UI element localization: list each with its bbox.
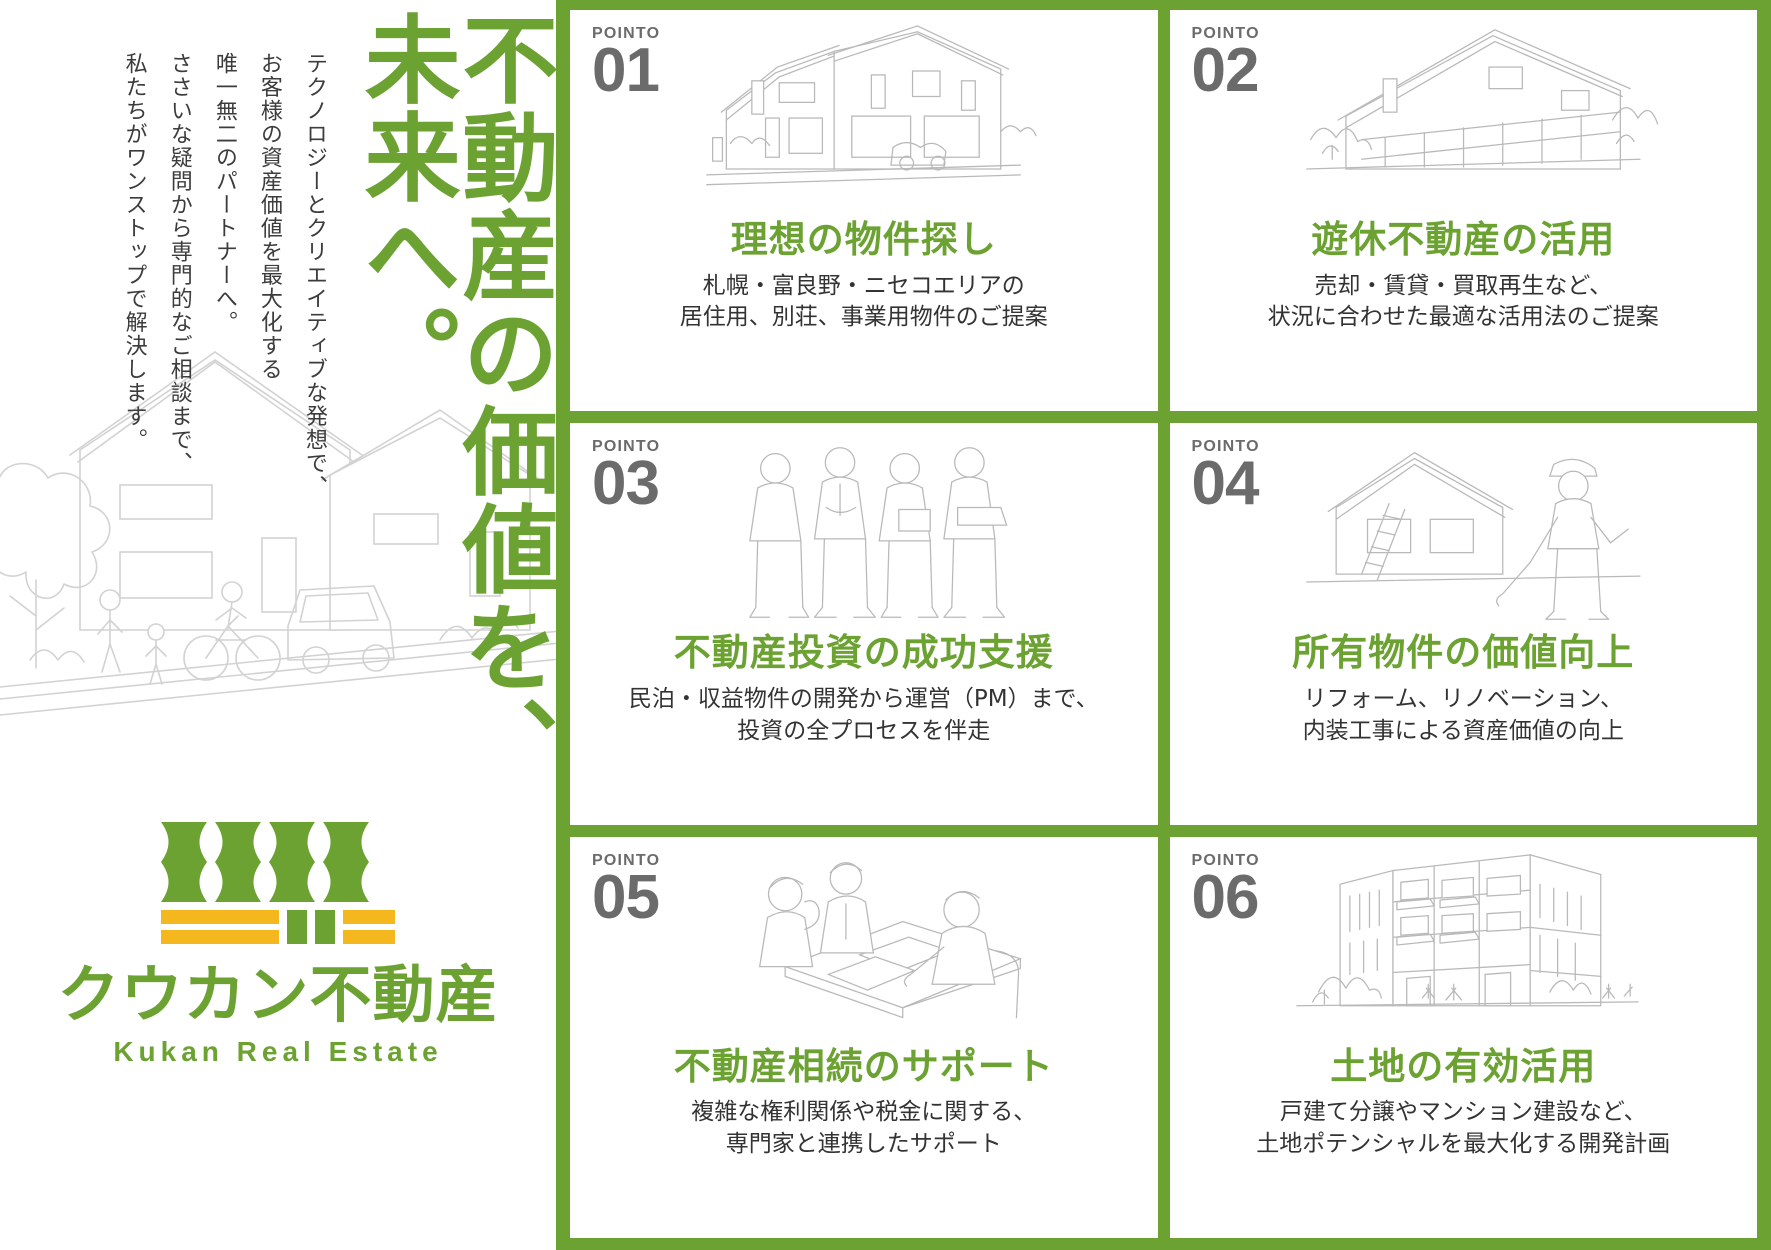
pointo-badge-02: POINTO 02 bbox=[1192, 26, 1260, 102]
point-card-05[interactable]: POINTO 05 bbox=[570, 837, 1158, 1238]
point-card-06[interactable]: POINTO 06 bbox=[1170, 837, 1758, 1238]
page-title: 不動産の価値を、 未来へ。 bbox=[354, 10, 550, 710]
card-title-05: 不動産相続のサポート bbox=[674, 1047, 1054, 1088]
card-desc-06: 戸建て分譲やマンション建設など、 土地ポテンシャルを最大化する開発計画 bbox=[1256, 1097, 1670, 1160]
card-desc-04: リフォーム、リノベーション、 内装工事による資産価値の向上 bbox=[1303, 684, 1624, 747]
pointo-badge-06: POINTO 06 bbox=[1192, 853, 1260, 929]
pointo-badge-04: POINTO 04 bbox=[1192, 439, 1260, 515]
point-card-03[interactable]: POINTO 03 bbox=[570, 423, 1158, 824]
pointo-number: 04 bbox=[1192, 453, 1260, 515]
card-desc-02: 売却・賃貸・買取再生など、 状況に合わせた最適な活用法のご提案 bbox=[1268, 271, 1659, 334]
hero-panel: 不動産の価値を、 未来へ。 私たちがワンストップで解決します。 ささいな疑問から… bbox=[0, 0, 556, 1250]
logo-mark-icon bbox=[153, 816, 403, 946]
pointo-badge-05: POINTO 05 bbox=[592, 853, 660, 929]
card-title-04: 所有物件の価値向上 bbox=[1292, 633, 1634, 674]
card-desc-05: 複雑な権利関係や税金に関する、 専門家と連携したサポート bbox=[691, 1097, 1036, 1160]
card-title-06: 土地の有効活用 bbox=[1330, 1047, 1596, 1088]
point-card-04[interactable]: POINTO 04 bbox=[1170, 423, 1758, 824]
card-title-02: 遊休不動産の活用 bbox=[1311, 220, 1615, 261]
pointo-number: 02 bbox=[1192, 40, 1260, 102]
card-desc-03: 民泊・収益物件の開発から運営（PM）まで、 投資の全プロセスを伴走 bbox=[629, 684, 1099, 747]
lede-block: 私たちがワンストップで解決します。 ささいな疑問から専門的なご相談まで、 唯一無… bbox=[113, 52, 338, 692]
lodge-building-icon bbox=[1184, 22, 1744, 218]
points-grid: POINTO 01 bbox=[556, 0, 1771, 1250]
point-card-01[interactable]: POINTO 01 bbox=[570, 10, 1158, 411]
lede-line-1: 私たちがワンストップで解決します。 bbox=[113, 52, 158, 672]
card-desc-01: 札幌・富良野・ニセコエリアの 居住用、別荘、事業用物件のご提案 bbox=[680, 271, 1048, 334]
flyer-page: 不動産の価値を、 未来へ。 私たちがワンストップで解決します。 ささいな疑問から… bbox=[0, 0, 1771, 1250]
lede-line-4: お客様の資産価値を最大化する bbox=[248, 52, 293, 672]
pointo-number: 03 bbox=[592, 453, 660, 515]
pointo-number: 05 bbox=[592, 867, 660, 929]
lede-line-5: テクノロジーとクリエイティブな発想で、 bbox=[293, 52, 338, 672]
pointo-badge-03: POINTO 03 bbox=[592, 439, 660, 515]
pointo-number: 01 bbox=[592, 40, 660, 102]
pointo-number: 06 bbox=[1192, 867, 1260, 929]
lede-line-2: ささいな疑問から専門的なご相談まで、 bbox=[158, 52, 203, 672]
card-title-03: 不動産投資の成功支援 bbox=[674, 633, 1054, 674]
headline-block: 不動産の価値を、 未来へ。 bbox=[354, 10, 550, 730]
logo-japanese-name: クウカン不動産 bbox=[57, 964, 498, 1026]
consultation-meeting-icon bbox=[584, 849, 1144, 1045]
company-logo: クウカン不動産 Kukan Real Estate bbox=[0, 816, 556, 1068]
pointo-badge-01: POINTO 01 bbox=[592, 26, 660, 102]
lede-line-3: 唯一無二のパートナーへ。 bbox=[203, 52, 248, 672]
logo-english-name: Kukan Real Estate bbox=[113, 1036, 442, 1068]
point-card-02[interactable]: POINTO 02 bbox=[1170, 10, 1758, 411]
card-title-01: 理想の物件探し bbox=[731, 220, 997, 261]
apartment-block-icon bbox=[1184, 849, 1744, 1045]
renovation-worker-icon bbox=[1184, 435, 1744, 631]
business-team-icon bbox=[584, 435, 1144, 631]
detached-house-icon bbox=[584, 22, 1144, 218]
